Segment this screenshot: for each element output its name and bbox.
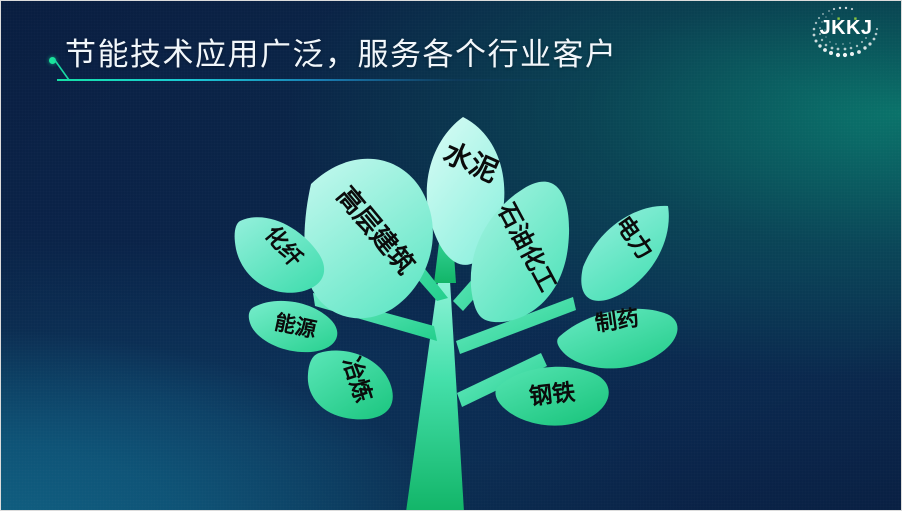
- logo-accent-dot-left: [837, 17, 839, 19]
- page-title: 节能技术应用广泛，服务各个行业客户: [65, 33, 618, 77]
- logo-accent-dot-right: [854, 17, 856, 19]
- title-underline: [57, 79, 612, 81]
- slide-header: 节能技术应用广泛，服务各个行业客户: [45, 35, 825, 93]
- company-logo: JKKJ: [799, 3, 889, 65]
- logo-wordmark: JKKJ: [820, 17, 873, 39]
- slide-canvas: 节能技术应用广泛，服务各个行业客户: [0, 0, 902, 511]
